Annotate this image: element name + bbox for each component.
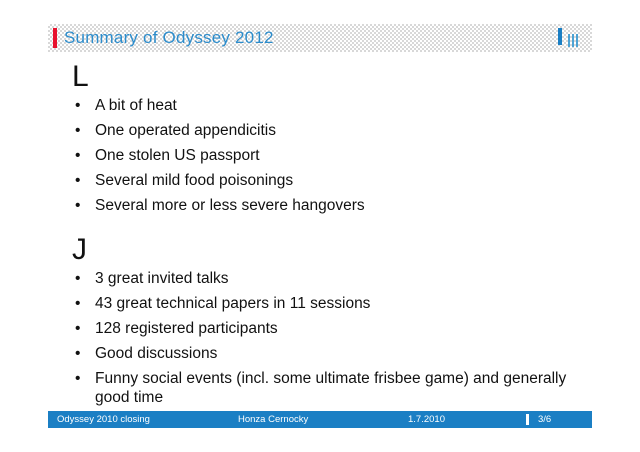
frowning-face-icon: L bbox=[72, 60, 588, 94]
list-item-label: 43 great technical papers in 11 sessions bbox=[95, 295, 370, 312]
list-item-label: 3 great invited talks bbox=[95, 270, 229, 287]
list-item-label: One stolen US passport bbox=[95, 147, 260, 164]
bullet-icon: • bbox=[75, 146, 80, 165]
bullet-icon: • bbox=[75, 171, 80, 190]
footer-event-label: Odyssey 2010 closing bbox=[57, 411, 150, 428]
bullet-icon: • bbox=[75, 369, 80, 388]
bullet-icon: • bbox=[75, 196, 80, 215]
slide-body: L • A bit of heat • One operated appendi… bbox=[68, 60, 588, 413]
slide-canvas: Summary of Odyssey 2012 L • A bit of hea… bbox=[0, 0, 640, 452]
slide-footer: Odyssey 2010 closing Honza Cernocky 1.7.… bbox=[48, 411, 592, 428]
list-item-label: Several mild food poisonings bbox=[95, 172, 293, 189]
section-negative: L • A bit of heat • One operated appendi… bbox=[68, 60, 588, 215]
footer-date-label: 1.7.2010 bbox=[408, 411, 445, 428]
list-item-label: One operated appendicitis bbox=[95, 122, 276, 139]
brno-university-logo bbox=[550, 27, 586, 51]
list-item-label: Good discussions bbox=[95, 345, 217, 362]
logo-columns-icon bbox=[568, 34, 581, 47]
title-accent-bar bbox=[53, 28, 57, 48]
list-item-label: A bit of heat bbox=[95, 97, 177, 114]
smiling-face-icon: J bbox=[72, 233, 588, 267]
footer-separator bbox=[526, 414, 529, 425]
footer-author-label: Honza Cernocky bbox=[238, 411, 308, 428]
footer-page-number: 3/6 bbox=[538, 411, 551, 428]
list-item: • 128 registered participants bbox=[68, 319, 588, 338]
bullet-icon: • bbox=[75, 269, 80, 288]
section-positive: J • 3 great invited talks • 43 great tec… bbox=[68, 233, 588, 407]
list-item: • One operated appendicitis bbox=[68, 121, 588, 140]
bullet-icon: • bbox=[75, 294, 80, 313]
list-item: • Funny social events (incl. some ultima… bbox=[68, 369, 588, 407]
list-item: • Several mild food poisonings bbox=[68, 171, 588, 190]
bullet-list-positive: • 3 great invited talks • 43 great techn… bbox=[68, 269, 588, 407]
bullet-list-negative: • A bit of heat • One operated appendici… bbox=[68, 96, 588, 215]
list-item: • A bit of heat bbox=[68, 96, 588, 115]
list-item: • Good discussions bbox=[68, 344, 588, 363]
bullet-icon: • bbox=[75, 96, 80, 115]
list-item: • Several more or less severe hangovers bbox=[68, 196, 588, 215]
list-item: • 3 great invited talks bbox=[68, 269, 588, 288]
logo-bar-icon bbox=[558, 28, 562, 45]
bullet-icon: • bbox=[75, 121, 80, 140]
list-item-label: 128 registered participants bbox=[95, 320, 278, 337]
list-item: • 43 great technical papers in 11 sessio… bbox=[68, 294, 588, 313]
list-item: • One stolen US passport bbox=[68, 146, 588, 165]
list-item-label: Funny social events (incl. some ultimate… bbox=[95, 370, 566, 406]
bullet-icon: • bbox=[75, 344, 80, 363]
list-item-label: Several more or less severe hangovers bbox=[95, 197, 365, 214]
page-title: Summary of Odyssey 2012 bbox=[64, 25, 274, 51]
slide-title-bar: Summary of Odyssey 2012 bbox=[48, 24, 592, 52]
bullet-icon: • bbox=[75, 319, 80, 338]
